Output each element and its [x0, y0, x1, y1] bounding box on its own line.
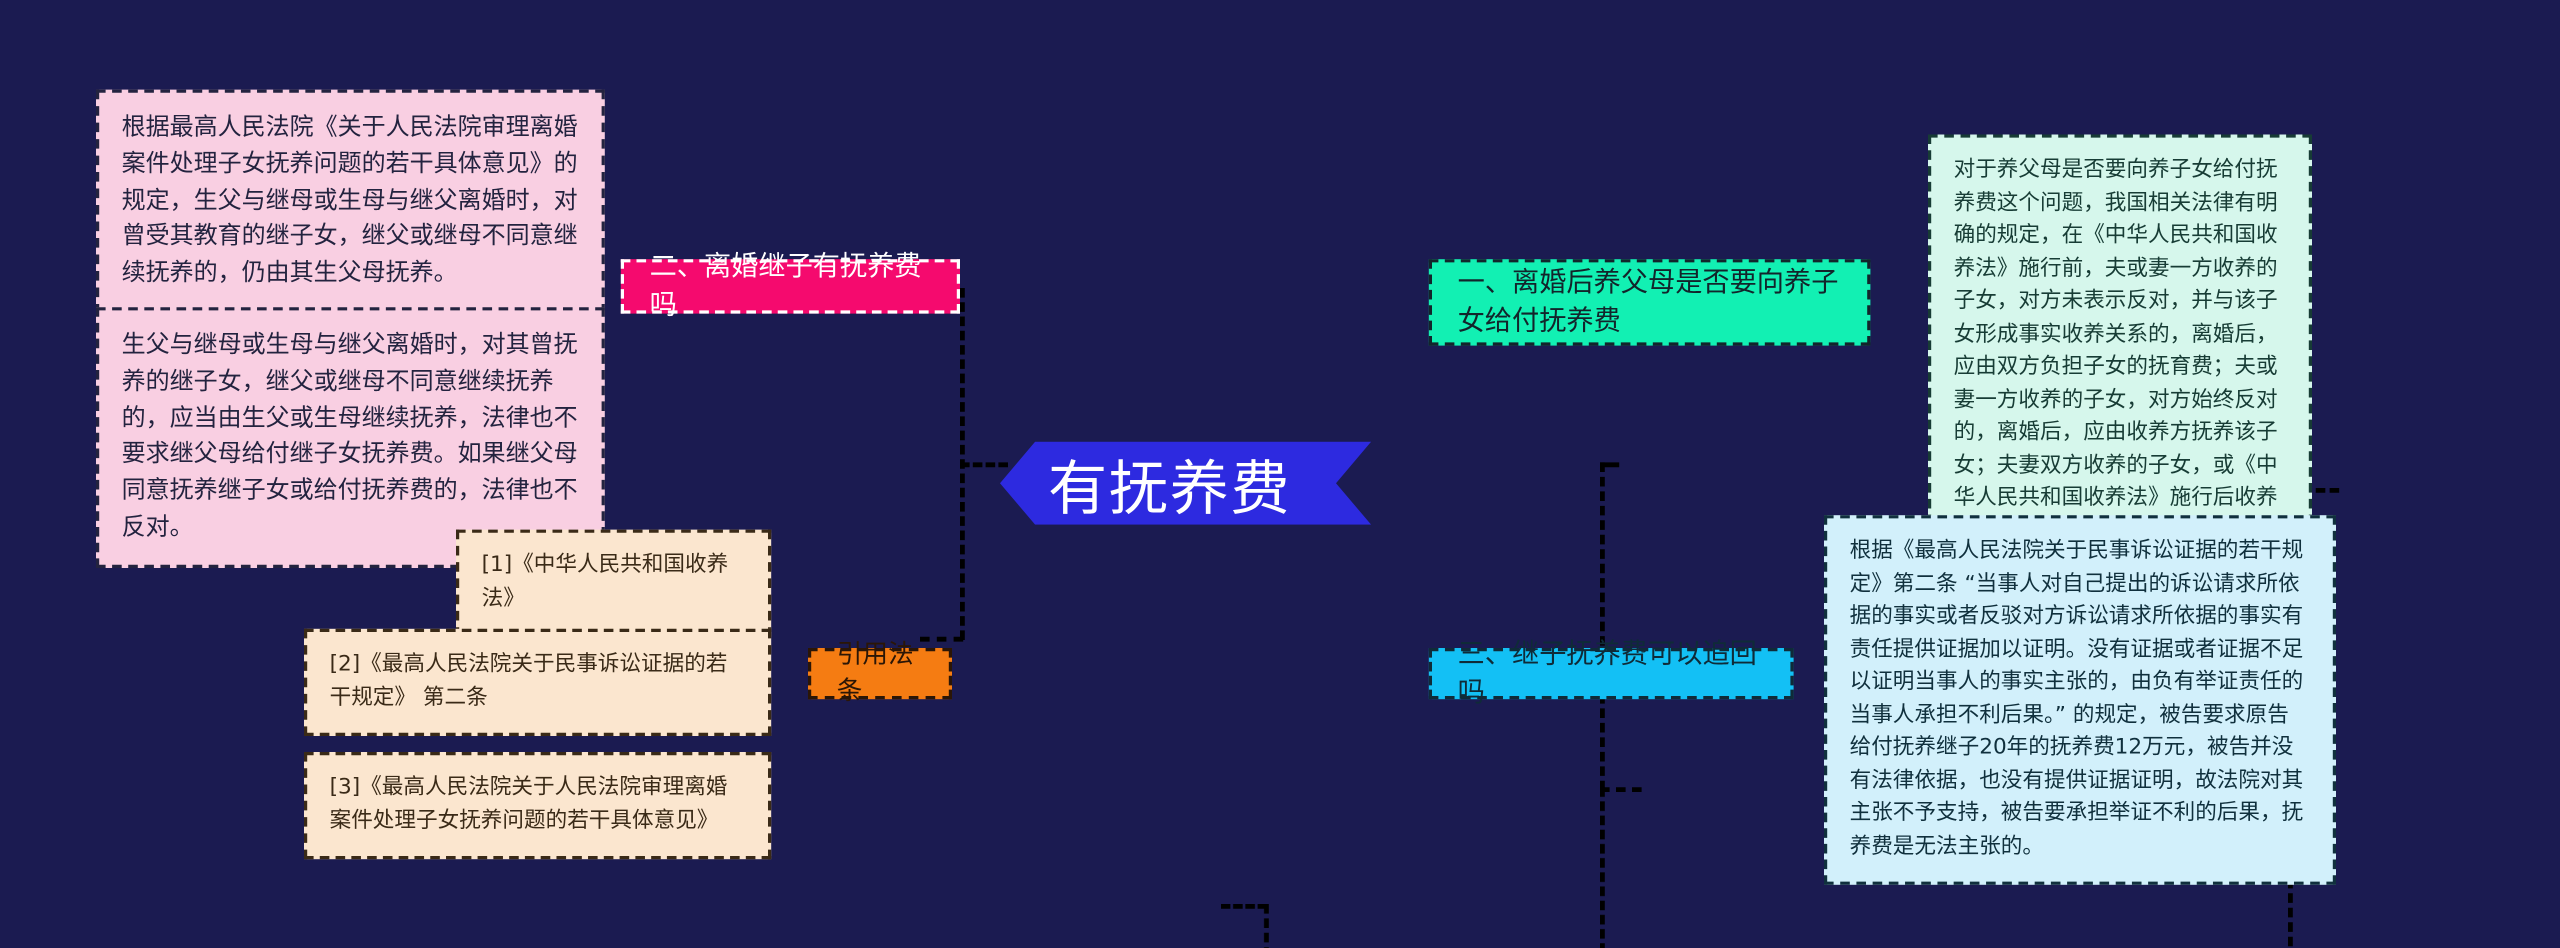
connector-citations-trunk: [1264, 904, 1269, 948]
connector-citation-1: [1221, 904, 1267, 909]
mindmap-canvas: 根据最高人民法院《关于人民法院审理离婚案件处理子女抚养问题的若干具体意见》的规定…: [0, 0, 2560, 948]
connector-branch-two-left: [960, 462, 1008, 467]
connector-branch-two-right: [1600, 462, 1619, 467]
connector-root-left-stub-upper: [1600, 787, 1642, 792]
branch-one-chip[interactable]: 一、离婚后养父母是否要向养子女给付抚养费: [1429, 259, 1871, 345]
pink-note-1-card: 根据最高人民法院《关于人民法院审理离婚案件处理子女抚养问题的若干具体意见》的规定…: [96, 90, 605, 314]
root-node[interactable]: 离婚继子有抚养费吗: [1000, 442, 1371, 525]
branch-two-chip[interactable]: 二、离婚继子有抚养费吗: [621, 259, 960, 313]
ice-note-1-card: 根据《最高人民法院关于民事诉讼证据的若干规定》第二条 “当事人对自己提出的诉讼请…: [1824, 515, 2336, 885]
connector-root-to-branch-two: [1600, 462, 1605, 790]
citation-1-card: [1]《中华人民共和国收养法》: [456, 530, 771, 637]
citation-3-card: [3]《最高人民法院关于人民法院审理离婚案件处理子女抚养问题的若干具体意见》: [304, 752, 771, 859]
connector-root-to-citations: [1600, 787, 1605, 948]
branch-three-chip[interactable]: 三、继子抚养费可以追回吗: [1429, 648, 1794, 699]
connector-branch-two-trunk: [960, 288, 965, 640]
citation-2-card: [2]《最高人民法院关于民事诉讼证据的若干规定》 第二条: [304, 629, 771, 736]
connector-pink-note-2: [920, 637, 963, 642]
pink-note-2-card: 生父与继母或生母与继父离婚时，对其曾抚养的继子女，继父或继母不同意继续抚养的，应…: [96, 307, 605, 567]
branch-citations-chip[interactable]: 引用法条: [808, 648, 952, 699]
